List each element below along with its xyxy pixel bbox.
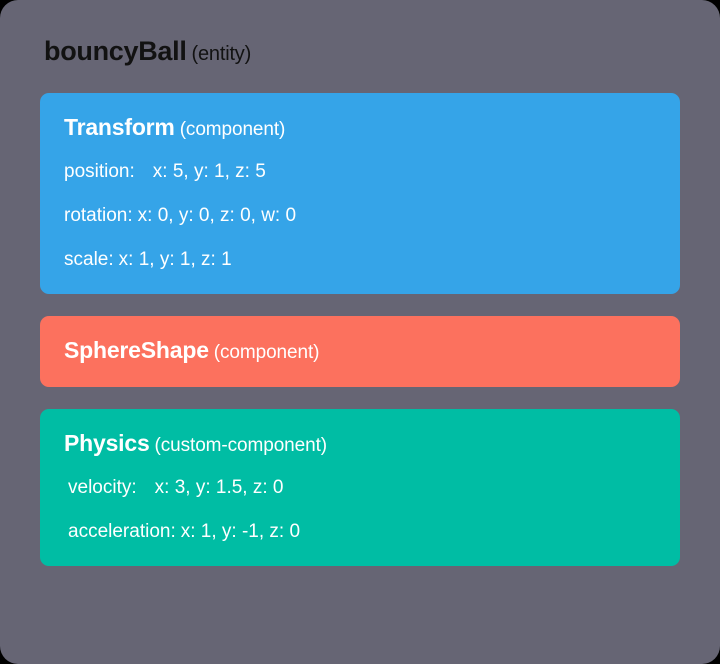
component-title-sphereshape: SphereShape(component) xyxy=(64,336,656,367)
component-type-label: (component) xyxy=(180,119,286,140)
property-value: x: 0, y: 0, z: 0, w: 0 xyxy=(138,205,296,226)
component-card-sphereshape[interactable]: SphereShape(component) xyxy=(40,316,680,387)
property-label: velocity: xyxy=(68,477,137,498)
component-type-label: (custom-component) xyxy=(155,435,327,456)
property-row-acceleration: acceleration:x: 1, y: -1, z: 0 xyxy=(64,520,656,544)
property-value: x: 1, y: -1, z: 0 xyxy=(181,521,300,542)
page-title: bouncyBall(entity) xyxy=(44,34,680,71)
property-value: x: 5, y: 1, z: 5 xyxy=(153,161,266,182)
property-row-scale: scale:x: 1, y: 1, z: 1 xyxy=(64,248,656,272)
entity-name: bouncyBall xyxy=(44,36,187,66)
component-title-transform: Transform(component) xyxy=(64,113,656,144)
property-label: rotation: xyxy=(64,205,133,226)
component-type-label: (component) xyxy=(214,342,320,363)
component-title-physics: Physics(custom-component) xyxy=(64,429,656,460)
entity-kind-label: (entity) xyxy=(192,43,252,65)
property-row-velocity: velocity:x: 3, y: 1.5, z: 0 xyxy=(64,476,656,500)
property-label: position: xyxy=(64,161,135,182)
component-name: SphereShape xyxy=(64,337,209,363)
property-row-rotation: rotation:x: 0, y: 0, z: 0, w: 0 xyxy=(64,204,656,228)
component-card-physics[interactable]: Physics(custom-component) velocity:x: 3,… xyxy=(40,409,680,566)
component-card-transform[interactable]: Transform(component) position:x: 5, y: 1… xyxy=(40,93,680,294)
property-row-position: position:x: 5, y: 1, z: 5 xyxy=(64,160,656,184)
entity-panel: bouncyBall(entity) Transform(component) … xyxy=(0,0,720,664)
property-label: scale: xyxy=(64,249,114,270)
component-name: Transform xyxy=(64,114,175,140)
property-value: x: 3, y: 1.5, z: 0 xyxy=(155,477,284,498)
component-name: Physics xyxy=(64,430,150,456)
property-label: acceleration: xyxy=(68,521,176,542)
property-value: x: 1, y: 1, z: 1 xyxy=(119,249,232,270)
